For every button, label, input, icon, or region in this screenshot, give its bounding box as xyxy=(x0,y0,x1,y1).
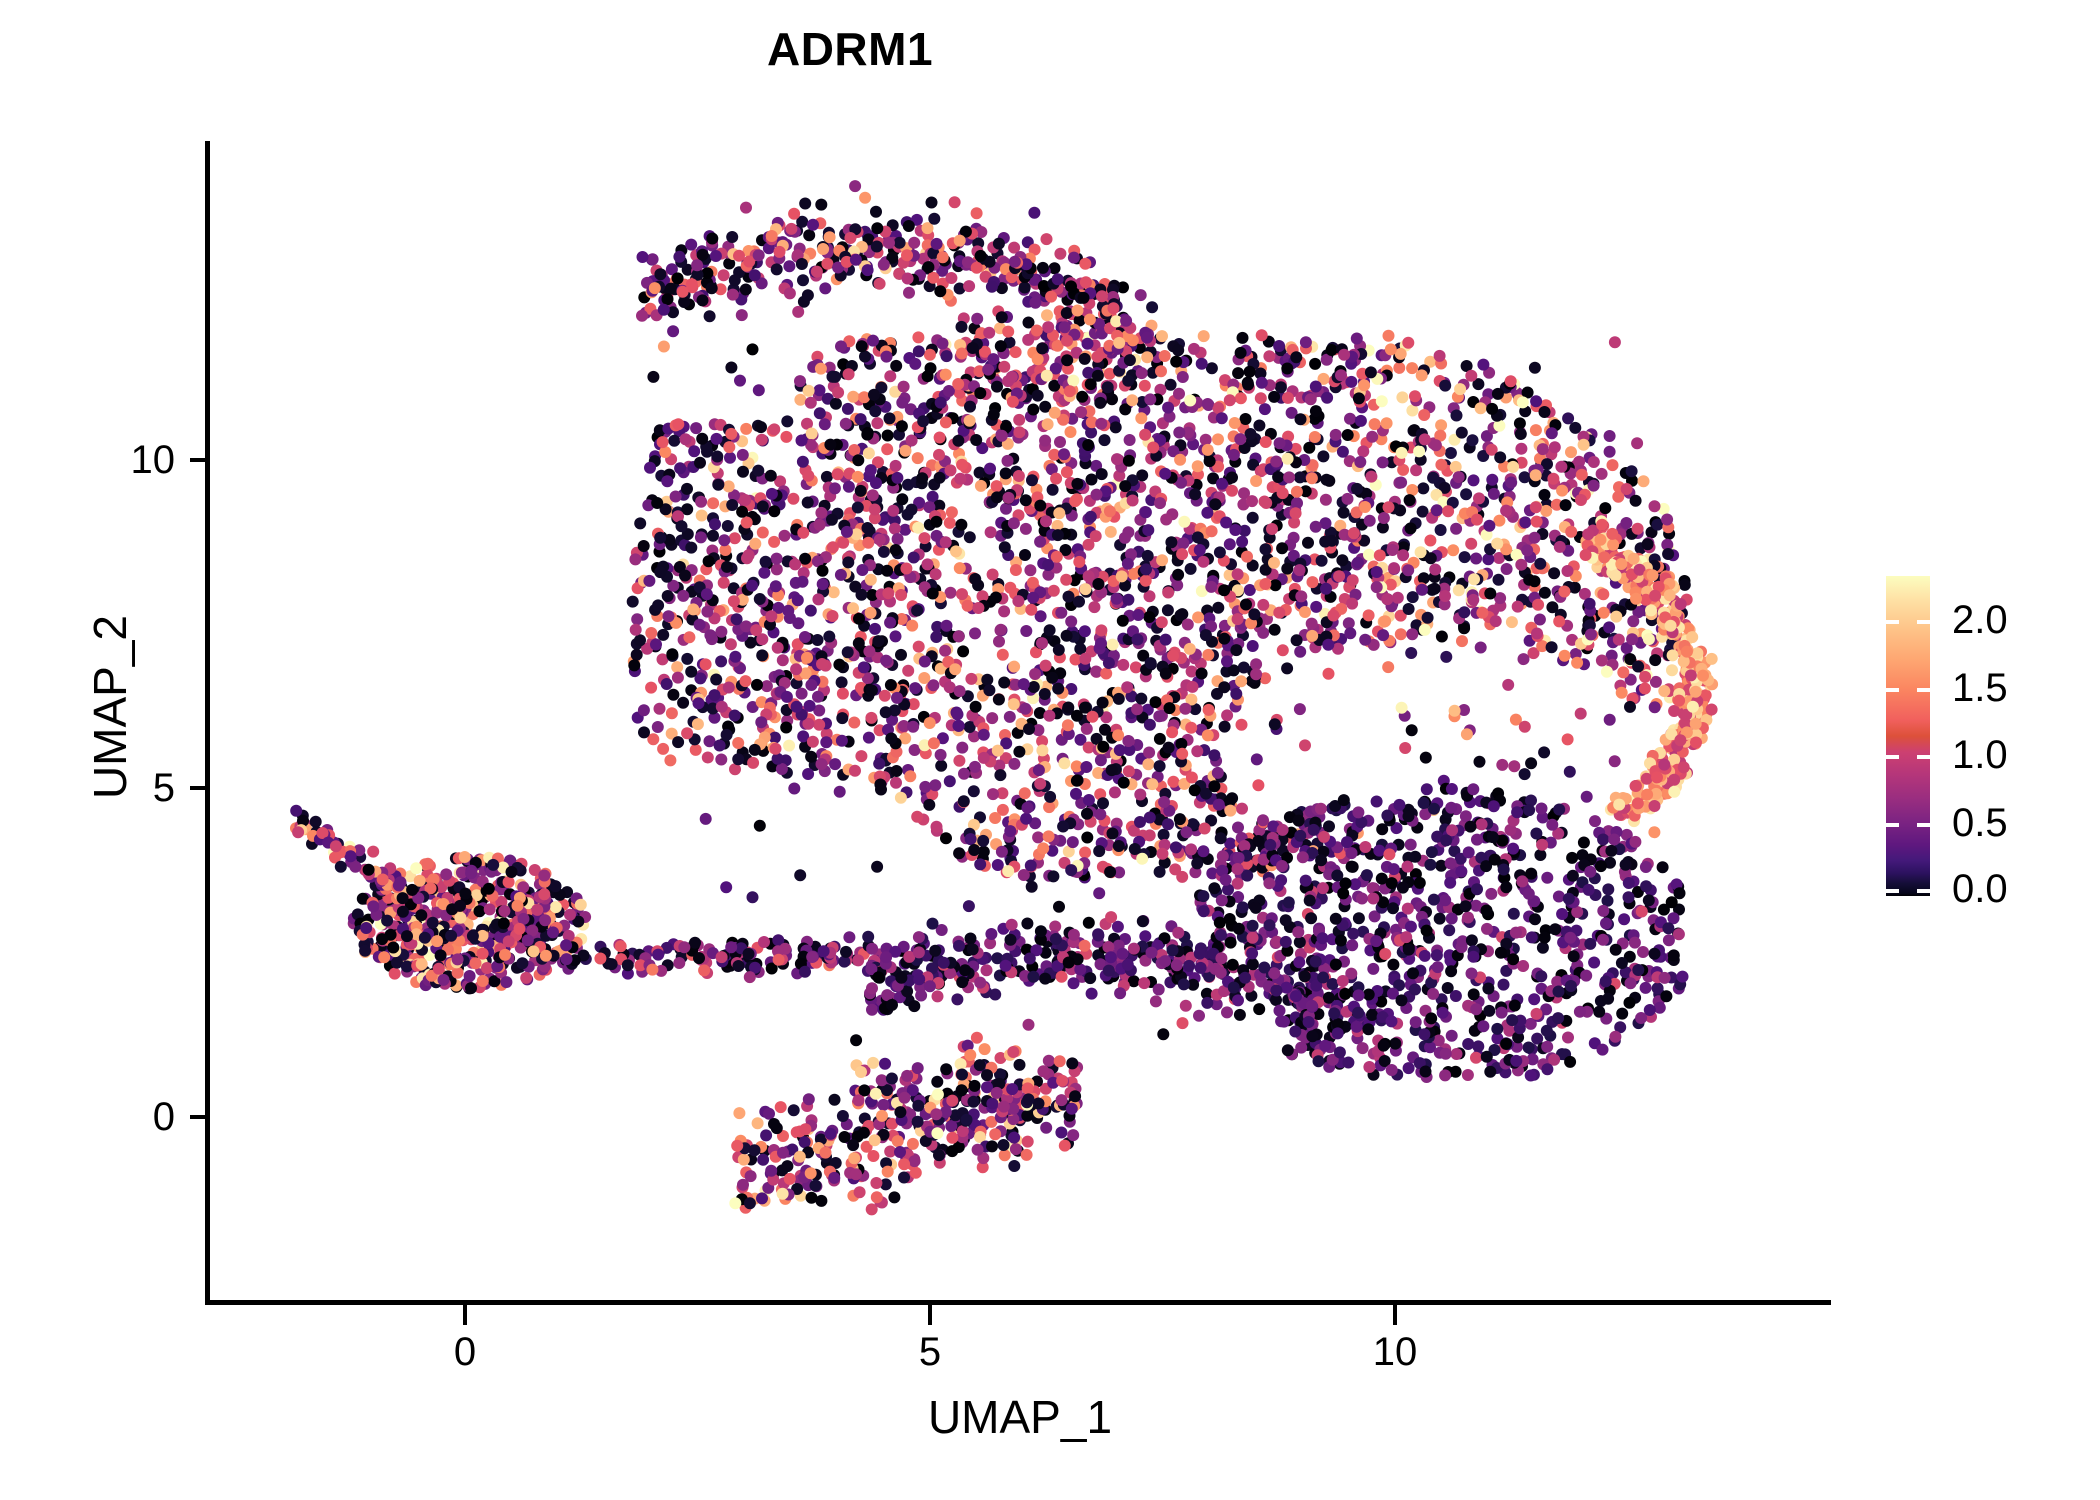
colorbar-label-0p5: 0.5 xyxy=(1952,801,2008,846)
colorbar-label-0p0: 0.0 xyxy=(1952,867,2008,912)
y-tick-mark-10 xyxy=(190,458,210,462)
x-axis-title: UMAP_1 xyxy=(545,1390,1495,1444)
colorbar-label-1p0: 1.0 xyxy=(1952,733,2008,778)
x-tick-label-0: 0 xyxy=(405,1330,525,1375)
colorbar-gradient xyxy=(1886,576,1930,896)
x-tick-label-10: 10 xyxy=(1335,1330,1455,1375)
y-axis-title: UMAP_2 xyxy=(83,207,137,1207)
plot-panel xyxy=(205,141,1831,1302)
colorbar-tick-0p5-right xyxy=(1917,823,1930,827)
scatter-points-layer xyxy=(205,141,1831,1302)
page-title: ADRM1 xyxy=(0,22,1700,76)
colorbar-tick-1p5-right xyxy=(1917,688,1930,692)
scatter-canvas xyxy=(205,141,1831,1302)
colorbar-legend: 2.0 1.5 1.0 0.5 0.0 xyxy=(1886,576,2086,898)
x-tick-mark-5 xyxy=(928,1305,932,1325)
colorbar-tick-2p0-right xyxy=(1917,620,1930,624)
colorbar-tick-1p5-left xyxy=(1886,688,1899,692)
colorbar-label-1p5: 1.5 xyxy=(1952,666,2008,711)
y-tick-mark-5 xyxy=(190,786,210,790)
colorbar-tick-0p0-right xyxy=(1917,889,1930,893)
colorbar-tick-1p0-right xyxy=(1917,755,1930,759)
colorbar-label-2p0: 2.0 xyxy=(1952,598,2008,643)
figure-root: ADRM1 10 5 0 0 5 10 UMAP_1 UMAP_2 2.0 1.… xyxy=(0,0,2100,1500)
x-tick-mark-0 xyxy=(463,1305,467,1325)
x-tick-label-5: 5 xyxy=(870,1330,990,1375)
colorbar-tick-2p0-left xyxy=(1886,620,1899,624)
colorbar-tick-1p0-left xyxy=(1886,755,1899,759)
x-tick-mark-10 xyxy=(1393,1305,1397,1325)
colorbar-tick-0p5-left xyxy=(1886,823,1899,827)
y-tick-mark-0 xyxy=(190,1115,210,1119)
colorbar-tick-0p0-left xyxy=(1886,889,1899,893)
